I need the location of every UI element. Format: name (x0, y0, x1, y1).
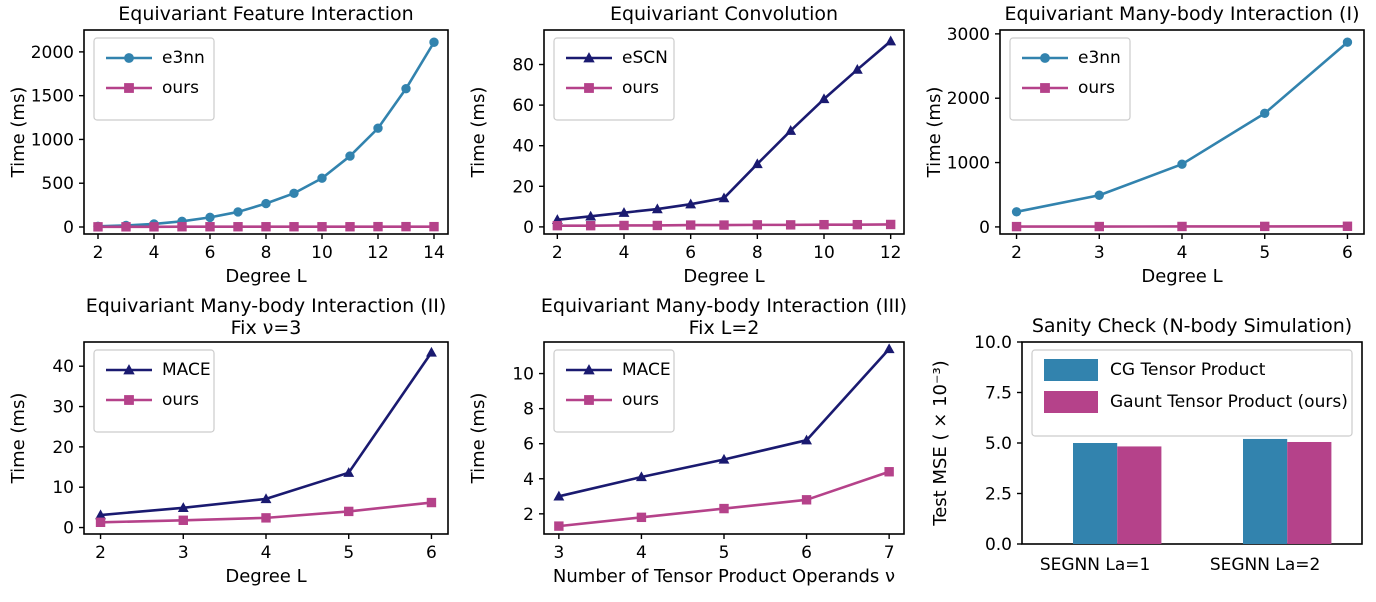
x-tick-label: 3 (1094, 243, 1105, 263)
y-tick-label: 30 (52, 398, 74, 418)
legend-label: MACE (162, 360, 211, 380)
data-point (1095, 191, 1103, 199)
x-tick-label: 4 (149, 243, 160, 263)
x-tick-label: 8 (261, 243, 272, 263)
chart-title: Equivariant Many-body Interaction (III) (541, 295, 907, 317)
data-point (179, 516, 187, 524)
x-tick-label: 7 (884, 543, 895, 563)
legend-swatch (1044, 391, 1098, 413)
data-point (178, 223, 186, 231)
data-point (553, 221, 561, 229)
panel-equivariant-many-body-interaction-i: Equivariant Many-body Interaction (I)234… (916, 0, 1376, 300)
data-point (427, 498, 435, 506)
x-tick-label: 12 (880, 243, 902, 263)
panel-sanity-check-n-body-simulation: Sanity Check (N-body Simulation)0.02.55.… (916, 292, 1376, 602)
x-tick-label: SEGNN La=2 (1210, 555, 1321, 575)
y-tick-label: 1000 (947, 154, 990, 174)
data-point (346, 152, 354, 160)
bar (1243, 439, 1287, 544)
legend: MACEours (94, 350, 214, 432)
legend-label: ours (1078, 78, 1115, 98)
x-tick-label: 14 (423, 243, 445, 263)
data-point (234, 208, 242, 216)
data-point (1343, 222, 1351, 230)
legend-label: ours (622, 390, 659, 410)
y-tick-label: 2000 (947, 89, 990, 109)
data-point (1261, 109, 1269, 117)
data-point (402, 84, 410, 92)
y-tick-label: 3000 (947, 25, 990, 45)
x-tick-label: 10 (813, 243, 835, 263)
chart-title: Sanity Check (N-body Simulation) (1032, 315, 1352, 337)
bar (1073, 443, 1117, 544)
legend-label: Gaunt Tensor Product (ours) (1110, 392, 1348, 412)
data-point (206, 223, 214, 231)
panel-equivariant-feature-interaction: Equivariant Feature Interaction246810121… (0, 0, 460, 300)
legend: MACEours (554, 350, 674, 432)
y-tick-label: 7.5 (985, 384, 1012, 404)
y-tick-label: 80 (512, 56, 534, 76)
y-tick-label: 6 (523, 435, 534, 455)
legend-swatch (1044, 359, 1098, 381)
data-point (802, 496, 810, 504)
legend-marker (125, 84, 134, 93)
data-point (290, 189, 298, 197)
x-tick-label: SEGNN La=1 (1040, 555, 1151, 575)
legend-label: eSCN (622, 48, 668, 68)
panel-equivariant-many-body-interaction-iii: Equivariant Many-body Interaction (III)F… (460, 292, 916, 602)
data-point (150, 223, 158, 231)
data-point (1343, 38, 1351, 46)
chart-title: Equivariant Many-body Interaction (II) (86, 295, 447, 317)
x-tick-label: 4 (1177, 243, 1188, 263)
x-tick-label: 2 (93, 243, 104, 263)
x-axis-label: Degree L (1141, 266, 1222, 287)
y-tick-label: 40 (52, 357, 74, 377)
x-tick-label: 8 (752, 243, 763, 263)
data-point (262, 223, 270, 231)
data-point (886, 220, 894, 228)
y-tick-label: 1500 (31, 87, 74, 107)
data-point (290, 223, 298, 231)
chart-title: Equivariant Convolution (610, 3, 838, 25)
y-tick-label: 4 (523, 470, 534, 490)
data-point (94, 223, 102, 231)
data-point (1095, 222, 1103, 230)
data-point (262, 514, 270, 522)
y-tick-label: 10.0 (974, 333, 1012, 353)
data-point (885, 468, 893, 476)
x-tick-label: 3 (178, 543, 189, 563)
panel-equivariant-convolution: Equivariant Convolution24681012020406080… (460, 0, 916, 300)
data-point (122, 223, 130, 231)
data-point (753, 221, 761, 229)
y-tick-label: 20 (52, 438, 74, 458)
y-tick-label: 0 (63, 519, 74, 539)
panel-equivariant-many-body-interaction-ii: Equivariant Many-body Interaction (II)Fi… (0, 292, 460, 602)
data-point (1178, 160, 1186, 168)
x-tick-label: 2 (552, 243, 563, 263)
data-point (1178, 222, 1186, 230)
data-point (1012, 222, 1020, 230)
bar (1287, 442, 1331, 544)
y-axis-label: Time (ms) (8, 87, 29, 179)
data-point (653, 221, 661, 229)
data-point (1261, 222, 1269, 230)
data-point (720, 221, 728, 229)
data-point (262, 199, 270, 207)
x-tick-label: 6 (205, 243, 216, 263)
chart-subtitle: Fix ν=3 (231, 317, 302, 339)
y-axis-label: Time (ms) (468, 393, 489, 485)
x-tick-label: 2 (1011, 243, 1022, 263)
x-axis-label: Degree L (225, 566, 306, 587)
y-tick-label: 0.0 (985, 535, 1012, 555)
legend-marker (585, 396, 594, 405)
legend-marker (1041, 84, 1050, 93)
data-point (637, 513, 645, 521)
data-point (234, 223, 242, 231)
x-tick-label: 5 (343, 543, 354, 563)
y-tick-label: 1000 (31, 130, 74, 150)
data-point (346, 223, 354, 231)
bar (1117, 446, 1161, 544)
x-axis-label: Degree L (683, 266, 764, 287)
legend: e3nnours (94, 38, 214, 120)
legend-marker (585, 84, 594, 93)
chart-subtitle: Fix L=2 (689, 317, 760, 339)
x-tick-label: 10 (311, 243, 333, 263)
y-tick-label: 500 (42, 174, 74, 194)
legend-label: e3nn (1078, 48, 1121, 68)
x-tick-label: 3 (553, 543, 564, 563)
legend-marker (125, 54, 134, 63)
data-point (620, 221, 628, 229)
y-axis-label: Time (ms) (924, 87, 945, 179)
data-point (374, 222, 382, 230)
x-tick-label: 4 (619, 243, 630, 263)
y-tick-label: 0 (523, 218, 534, 238)
data-point (374, 124, 382, 132)
chart-title: Equivariant Many-body Interaction (I) (1005, 3, 1360, 25)
y-tick-label: 2 (523, 505, 534, 525)
x-tick-label: 6 (801, 543, 812, 563)
legend: eSCNours (554, 38, 674, 120)
x-tick-label: 4 (261, 543, 272, 563)
data-point (886, 37, 895, 45)
legend-label: MACE (622, 360, 671, 380)
data-point (430, 38, 438, 46)
data-point (430, 222, 438, 230)
y-tick-label: 20 (512, 177, 534, 197)
y-tick-label: 5.0 (985, 434, 1012, 454)
legend-marker (125, 396, 134, 405)
legend-label: e3nn (162, 48, 205, 68)
data-point (820, 220, 828, 228)
data-point (786, 221, 794, 229)
data-point (345, 507, 353, 515)
data-point (96, 518, 104, 526)
data-point (885, 344, 894, 352)
data-point (853, 220, 861, 228)
data-point (318, 174, 326, 182)
x-axis-label: Number of Tensor Product Operands ν (553, 566, 895, 587)
data-point (318, 223, 326, 231)
x-tick-label: 12 (367, 243, 389, 263)
x-tick-label: 2 (95, 543, 106, 563)
data-point (720, 504, 728, 512)
x-tick-label: 6 (426, 543, 437, 563)
legend: e3nnours (1010, 38, 1130, 120)
data-point (402, 222, 410, 230)
legend: CG Tensor ProductGaunt Tensor Product (o… (1032, 350, 1352, 436)
y-tick-label: 8 (523, 400, 534, 420)
data-point (555, 522, 563, 530)
legend-marker (1041, 54, 1050, 63)
x-tick-label: 5 (1259, 243, 1270, 263)
x-tick-label: 5 (719, 543, 730, 563)
data-point (1012, 208, 1020, 216)
y-tick-label: 0 (979, 218, 990, 238)
x-tick-label: 6 (1342, 243, 1353, 263)
legend-label: ours (162, 390, 199, 410)
data-point (206, 213, 214, 221)
legend-label: ours (162, 78, 199, 98)
y-axis-label: Time (ms) (8, 393, 29, 485)
data-point (427, 348, 436, 356)
x-tick-label: 4 (636, 543, 647, 563)
x-axis-label: Degree L (225, 266, 306, 287)
y-axis-label: Time (ms) (468, 87, 489, 179)
legend-label: CG Tensor Product (1110, 360, 1266, 380)
y-tick-label: 10 (52, 478, 74, 498)
chart-title: Equivariant Feature Interaction (118, 3, 413, 25)
y-tick-label: 0 (63, 218, 74, 238)
legend-label: ours (622, 78, 659, 98)
y-axis-label: Test MSE ( × 10⁻³) (930, 360, 951, 526)
y-tick-label: 60 (512, 96, 534, 116)
y-tick-label: 2000 (31, 43, 74, 63)
y-tick-label: 10 (512, 365, 534, 385)
data-point (686, 221, 694, 229)
data-point (586, 221, 594, 229)
series-line-ours (559, 472, 889, 526)
y-tick-label: 2.5 (985, 485, 1012, 505)
x-tick-label: 6 (685, 243, 696, 263)
figure-canvas: Equivariant Feature Interaction246810121… (0, 0, 1376, 602)
y-tick-label: 40 (512, 137, 534, 157)
